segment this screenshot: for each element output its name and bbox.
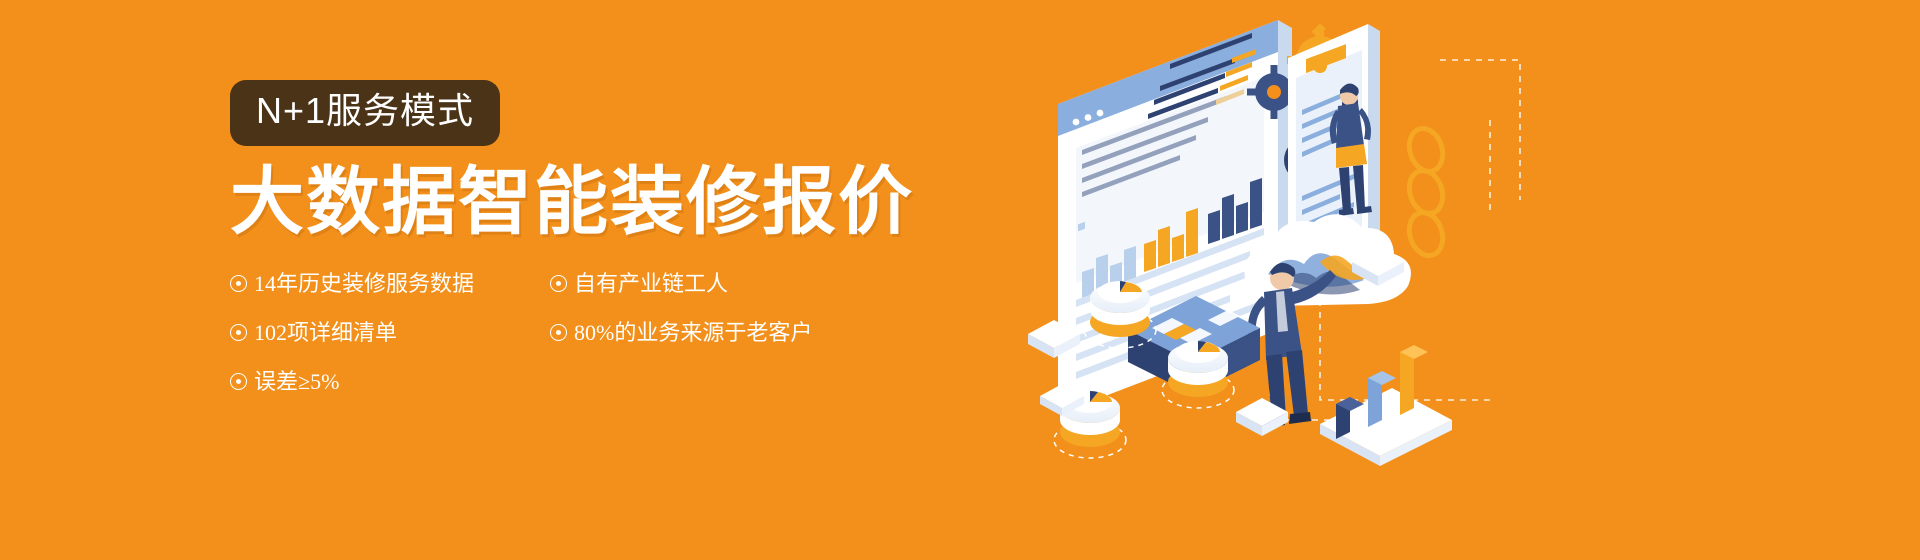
service-model-badge: N+1服务模式 xyxy=(230,80,500,146)
target-dot-icon xyxy=(550,275,567,292)
target-dot-icon xyxy=(230,324,247,341)
target-dot-icon xyxy=(230,373,247,390)
banner-copy: N+1服务模式 大数据智能装修报价 14年历史装修服务数据 自有产业链工人 10… xyxy=(230,80,930,420)
page-title: 大数据智能装修报价 xyxy=(230,164,930,239)
list-item-label: 误差≥5% xyxy=(254,369,339,394)
list-item: 14年历史装修服务数据 xyxy=(230,273,550,295)
list-item: 误差≥5% xyxy=(230,371,550,393)
promo-banner: N+1服务模式 大数据智能装修报价 14年历史装修服务数据 自有产业链工人 10… xyxy=(0,0,1920,560)
target-dot-icon xyxy=(230,275,247,292)
list-item-label: 14年历史装修服务数据 xyxy=(254,271,474,296)
list-item-label: 80%的业务来源于老客户 xyxy=(574,320,812,345)
ring-stack xyxy=(1404,124,1448,260)
list-item: 102项详细清单 xyxy=(230,322,550,344)
feature-bullet-list: 14年历史装修服务数据 自有产业链工人 102项详细清单 80%的业务来源于老客… xyxy=(230,273,870,420)
bar-column-group xyxy=(1320,345,1452,466)
list-item-label: 自有产业链工人 xyxy=(574,271,728,296)
list-item: 80%的业务来源于老客户 xyxy=(550,322,870,344)
isometric-big-data-illustration xyxy=(1020,0,1920,560)
list-item-label: 102项详细清单 xyxy=(254,320,397,345)
target-dot-icon xyxy=(550,324,567,341)
list-item: 自有产业链工人 xyxy=(550,273,870,295)
pie-chart-cylinder-2 xyxy=(1162,341,1234,408)
